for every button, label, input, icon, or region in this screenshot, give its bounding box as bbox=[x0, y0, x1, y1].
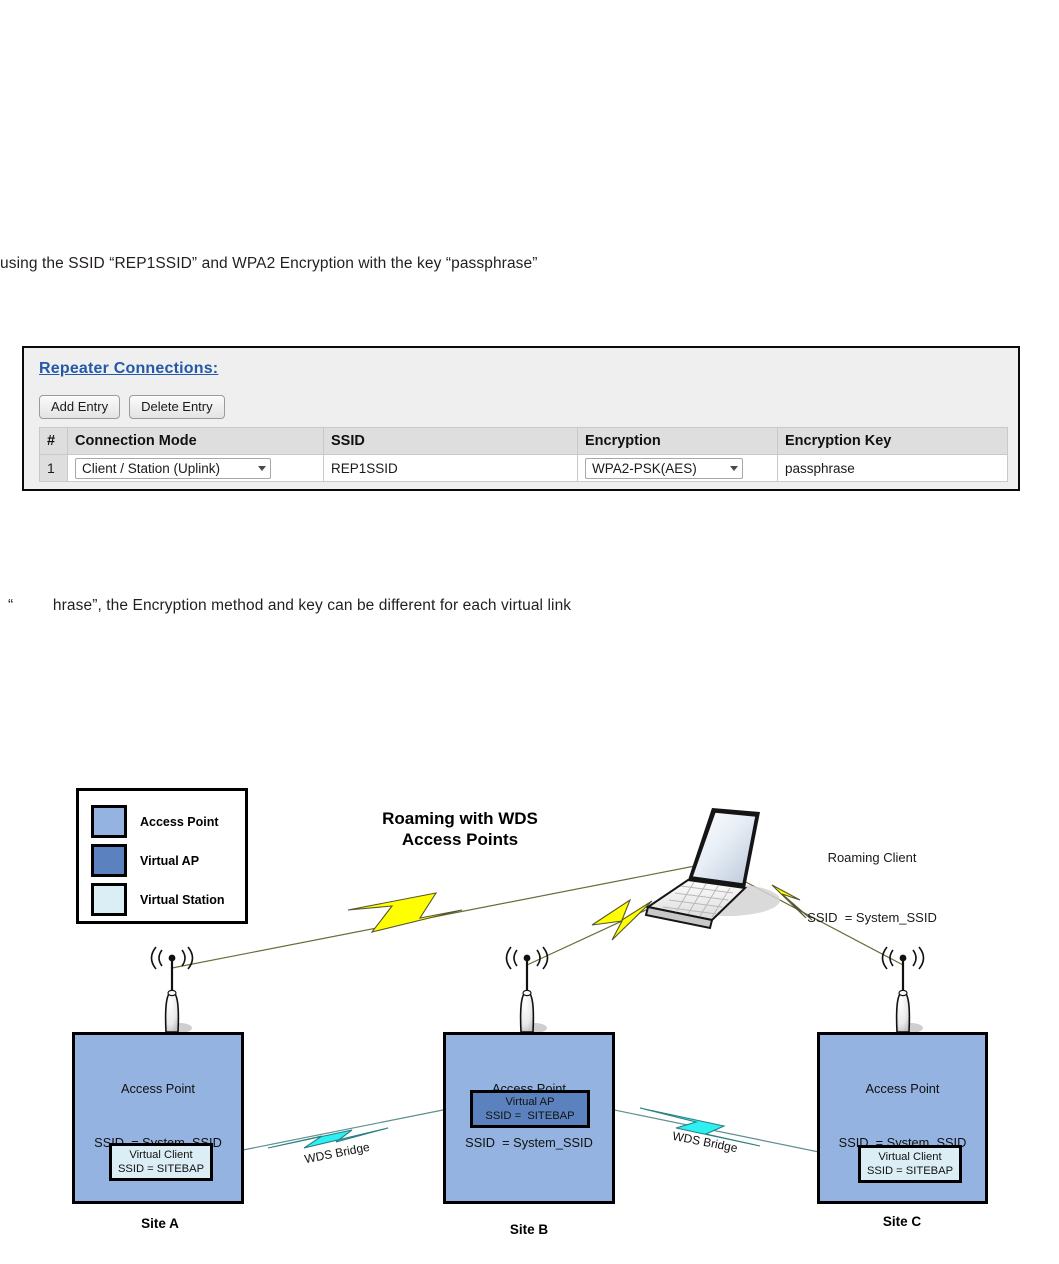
connection-mode-select[interactable]: Client / Station (Uplink) bbox=[75, 458, 271, 479]
antenna-site-b bbox=[507, 947, 548, 1033]
encryption-key-value[interactable]: passphrase bbox=[778, 455, 1008, 482]
encryption-value: WPA2-PSK(AES) bbox=[592, 461, 697, 476]
legend-swatch-virtual-ap bbox=[91, 844, 127, 877]
column-header-index: # bbox=[40, 428, 68, 455]
connection-mode-value: Client / Station (Uplink) bbox=[82, 461, 220, 476]
wds-roaming-diagram: Access Point Virtual AP Virtual Station … bbox=[0, 760, 1059, 1260]
column-header-ssid: SSID bbox=[324, 428, 578, 455]
roaming-client-line2: SSID = System_SSID bbox=[757, 908, 987, 928]
lightning-bolt-icon bbox=[592, 900, 652, 940]
site-b-access-point-box: Access Point SSID = System_SSID Virtual … bbox=[443, 1032, 615, 1204]
site-a-label: Site A bbox=[100, 1216, 220, 1231]
site-c-label: Site C bbox=[842, 1214, 962, 1229]
repeater-connections-heading: Repeater Connections: bbox=[39, 360, 218, 378]
diagram-title-line: Roaming with WDS bbox=[345, 808, 575, 829]
legend-label-access-point: Access Point bbox=[140, 815, 219, 829]
column-header-connection-mode: Connection Mode bbox=[68, 428, 324, 455]
legend-item-access-point: Access Point bbox=[91, 805, 219, 838]
table-row: 1 Client / Station (Uplink) REP1SSID WPA… bbox=[40, 455, 1008, 482]
paragraph-encryption-note: “ hrase”, the Encryption method and key … bbox=[8, 597, 571, 615]
site-b-inner-line2: SSID = SITEBAP bbox=[485, 1109, 574, 1123]
site-c-access-point-box: Access Point SSID = System_SSID Virtual … bbox=[817, 1032, 988, 1204]
row-index: 1 bbox=[40, 455, 68, 482]
connection-mode-cell: Client / Station (Uplink) bbox=[68, 455, 324, 482]
site-c-inner-line2: SSID = SITEBAP bbox=[867, 1164, 953, 1178]
column-header-encryption: Encryption bbox=[578, 428, 778, 455]
add-entry-button[interactable]: Add Entry bbox=[39, 395, 120, 419]
delete-entry-button[interactable]: Delete Entry bbox=[129, 395, 225, 419]
site-c-virtual-client-box: Virtual Client SSID = SITEBAP bbox=[858, 1145, 962, 1183]
table-action-buttons: Add Entry Delete Entry bbox=[39, 395, 225, 419]
ssid-value[interactable]: REP1SSID bbox=[324, 455, 578, 482]
repeater-connections-panel: Repeater Connections: Add Entry Delete E… bbox=[22, 346, 1020, 491]
chevron-down-icon bbox=[730, 466, 738, 471]
site-a-inner-line2: SSID = SITEBAP bbox=[118, 1162, 204, 1176]
site-b-inner-line1: Virtual AP bbox=[506, 1095, 555, 1109]
repeater-connections-table: # Connection Mode SSID Encryption Encryp… bbox=[39, 427, 1008, 482]
site-a-head-line1: Access Point bbox=[75, 1080, 241, 1098]
diagram-legend: Access Point Virtual AP Virtual Station bbox=[76, 788, 248, 924]
column-header-encryption-key: Encryption Key bbox=[778, 428, 1008, 455]
diagram-title: Roaming with WDSAccess Points bbox=[345, 808, 575, 850]
lightning-bolt-icon bbox=[348, 893, 462, 932]
legend-swatch-virtual-station bbox=[91, 883, 127, 916]
site-b-virtual-ap-box: Virtual AP SSID = SITEBAP bbox=[470, 1090, 590, 1128]
table-header-row: # Connection Mode SSID Encryption Encryp… bbox=[40, 428, 1008, 455]
site-a-inner-line1: Virtual Client bbox=[129, 1148, 192, 1162]
chevron-down-icon bbox=[258, 466, 266, 471]
roaming-client-label: Roaming Client SSID = System_SSID bbox=[757, 808, 987, 968]
site-a-virtual-client-box: Virtual Client SSID = SITEBAP bbox=[109, 1143, 213, 1181]
paragraph-using-ssid: using the SSID “REP1SSID” and WPA2 Encry… bbox=[0, 255, 538, 273]
roaming-client-line1: Roaming Client bbox=[757, 848, 987, 868]
diagram-title-line: Access Points bbox=[345, 829, 575, 850]
legend-label-virtual-station: Virtual Station bbox=[140, 893, 225, 907]
lightning-bolt-icon bbox=[268, 1128, 388, 1148]
encryption-cell: WPA2-PSK(AES) bbox=[578, 455, 778, 482]
antenna-site-a bbox=[152, 947, 193, 1033]
legend-item-virtual-ap: Virtual AP bbox=[91, 844, 199, 877]
legend-label-virtual-ap: Virtual AP bbox=[140, 854, 199, 868]
legend-item-virtual-station: Virtual Station bbox=[91, 883, 225, 916]
site-c-inner-line1: Virtual Client bbox=[878, 1150, 941, 1164]
site-a-access-point-box: Access Point SSID = System_SSID Virtual … bbox=[72, 1032, 244, 1204]
legend-swatch-access-point bbox=[91, 805, 127, 838]
site-c-head-line1: Access Point bbox=[820, 1080, 985, 1098]
site-b-label: Site B bbox=[469, 1222, 589, 1237]
site-b-head-line2: SSID = System_SSID bbox=[446, 1134, 612, 1152]
encryption-select[interactable]: WPA2-PSK(AES) bbox=[585, 458, 743, 479]
